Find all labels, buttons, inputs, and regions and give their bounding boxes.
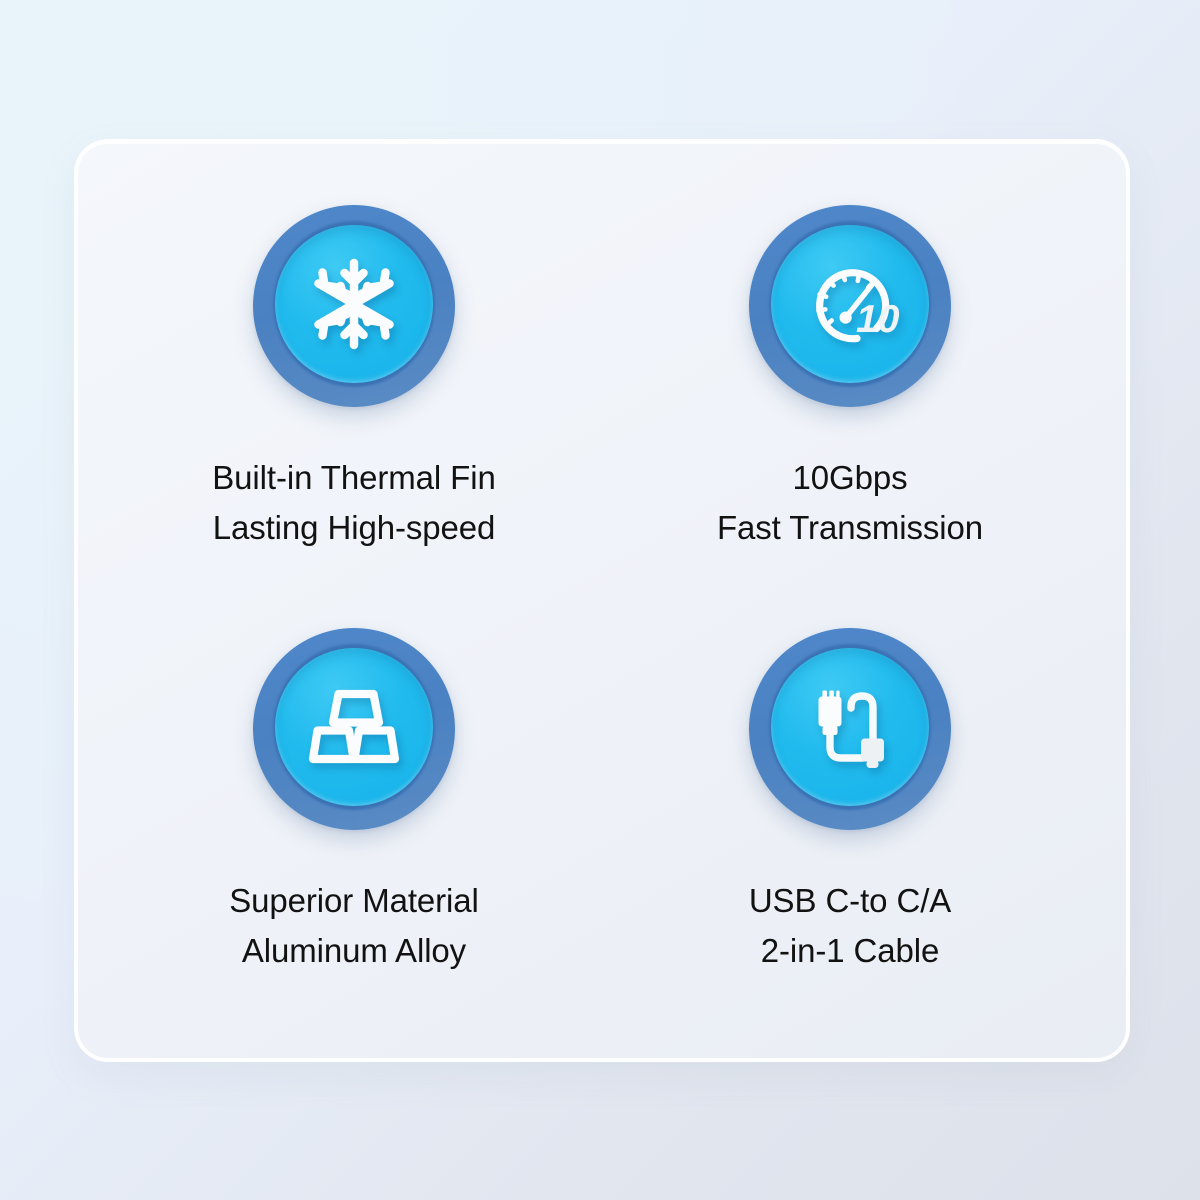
- feature-item-aluminum-alloy[interactable]: Superior Material Aluminum Alloy: [106, 602, 602, 1025]
- speedometer-10-icon: 10: [800, 254, 900, 354]
- caption-line-2: Aluminum Alloy: [229, 926, 479, 976]
- aluminum-ingots-icon: [304, 677, 404, 777]
- badge-usb-cable: [749, 628, 951, 830]
- snowflake-icon: [304, 254, 404, 354]
- caption-line-1: USB C-to C/A: [749, 882, 951, 919]
- feature-grid: Built-in Thermal Fin Lasting High-speed: [78, 143, 1126, 1058]
- feature-caption: 10Gbps Fast Transmission: [717, 453, 983, 554]
- feature-card: Built-in Thermal Fin Lasting High-speed: [74, 139, 1130, 1062]
- badge-aluminum-alloy: [253, 628, 455, 830]
- usb-cable-icon: [800, 677, 900, 777]
- gauge-value-label: 10: [856, 298, 900, 341]
- caption-line-1: Superior Material: [229, 882, 479, 919]
- feature-item-usb-cable[interactable]: USB C-to C/A 2-in-1 Cable: [602, 602, 1098, 1025]
- caption-line-2: Fast Transmission: [717, 503, 983, 553]
- badge-disc: [275, 225, 433, 383]
- caption-line-2: 2-in-1 Cable: [749, 926, 951, 976]
- feature-item-thermal-fin[interactable]: Built-in Thermal Fin Lasting High-speed: [106, 179, 602, 602]
- badge-thermal-fin: [253, 205, 455, 407]
- badge-disc: 10: [771, 225, 929, 383]
- caption-line-1: 10Gbps: [793, 459, 908, 496]
- feature-caption: Built-in Thermal Fin Lasting High-speed: [212, 453, 495, 554]
- feature-caption: USB C-to C/A 2-in-1 Cable: [749, 876, 951, 977]
- feature-caption: Superior Material Aluminum Alloy: [229, 876, 479, 977]
- caption-line-2: Lasting High-speed: [212, 503, 495, 553]
- badge-disc: [771, 648, 929, 806]
- badge-disc: [275, 648, 433, 806]
- badge-fast-transmission: 10: [749, 205, 951, 407]
- feature-item-fast-transmission[interactable]: 10 10Gbps Fast Transmission: [602, 179, 1098, 602]
- caption-line-1: Built-in Thermal Fin: [212, 459, 495, 496]
